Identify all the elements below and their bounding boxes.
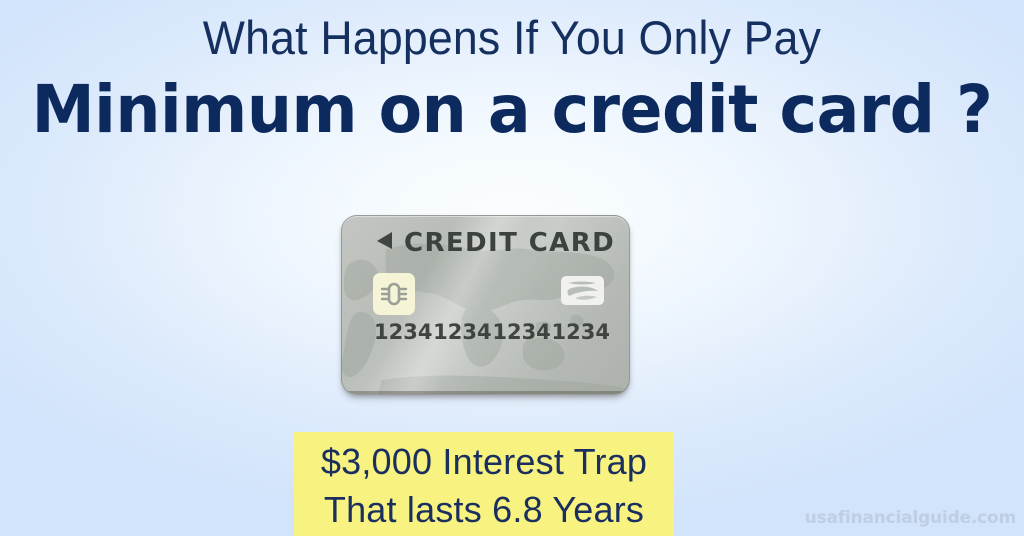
credit-card-illustration: CREDIT CARD <box>341 215 630 395</box>
card-number-group-4: 1234 <box>552 320 610 344</box>
site-watermark: usafinancialguide.com <box>805 508 1016 528</box>
callout-line-2: That lasts 6.8 Years <box>306 486 662 534</box>
card-number: 1234 1234 1234 1234 <box>374 320 610 344</box>
highlight-callout: $3,000 Interest Trap That lasts 6.8 Year… <box>294 432 674 536</box>
card-number-group-2: 1234 <box>433 320 491 344</box>
hologram-icon <box>561 276 604 305</box>
card-number-group-1: 1234 <box>374 320 432 344</box>
card-bottom-edge <box>348 391 623 394</box>
card-number-group-3: 1234 <box>492 320 550 344</box>
poster-canvas: What Happens If You Only Pay Minimum on … <box>0 0 1024 536</box>
credit-card-body: CREDIT CARD <box>341 215 630 395</box>
headline-line-1: What Happens If You Only Pay <box>26 14 999 61</box>
left-triangle-icon <box>376 231 393 255</box>
card-label-group: CREDIT CARD <box>376 228 615 258</box>
callout-line-1: $3,000 Interest Trap <box>306 438 662 486</box>
headline-block: What Happens If You Only Pay Minimum on … <box>0 14 1024 143</box>
chip-icon <box>373 273 415 315</box>
headline-line-2: Minimum on a credit card ? <box>20 77 1003 143</box>
card-label-text: CREDIT CARD <box>404 228 615 258</box>
